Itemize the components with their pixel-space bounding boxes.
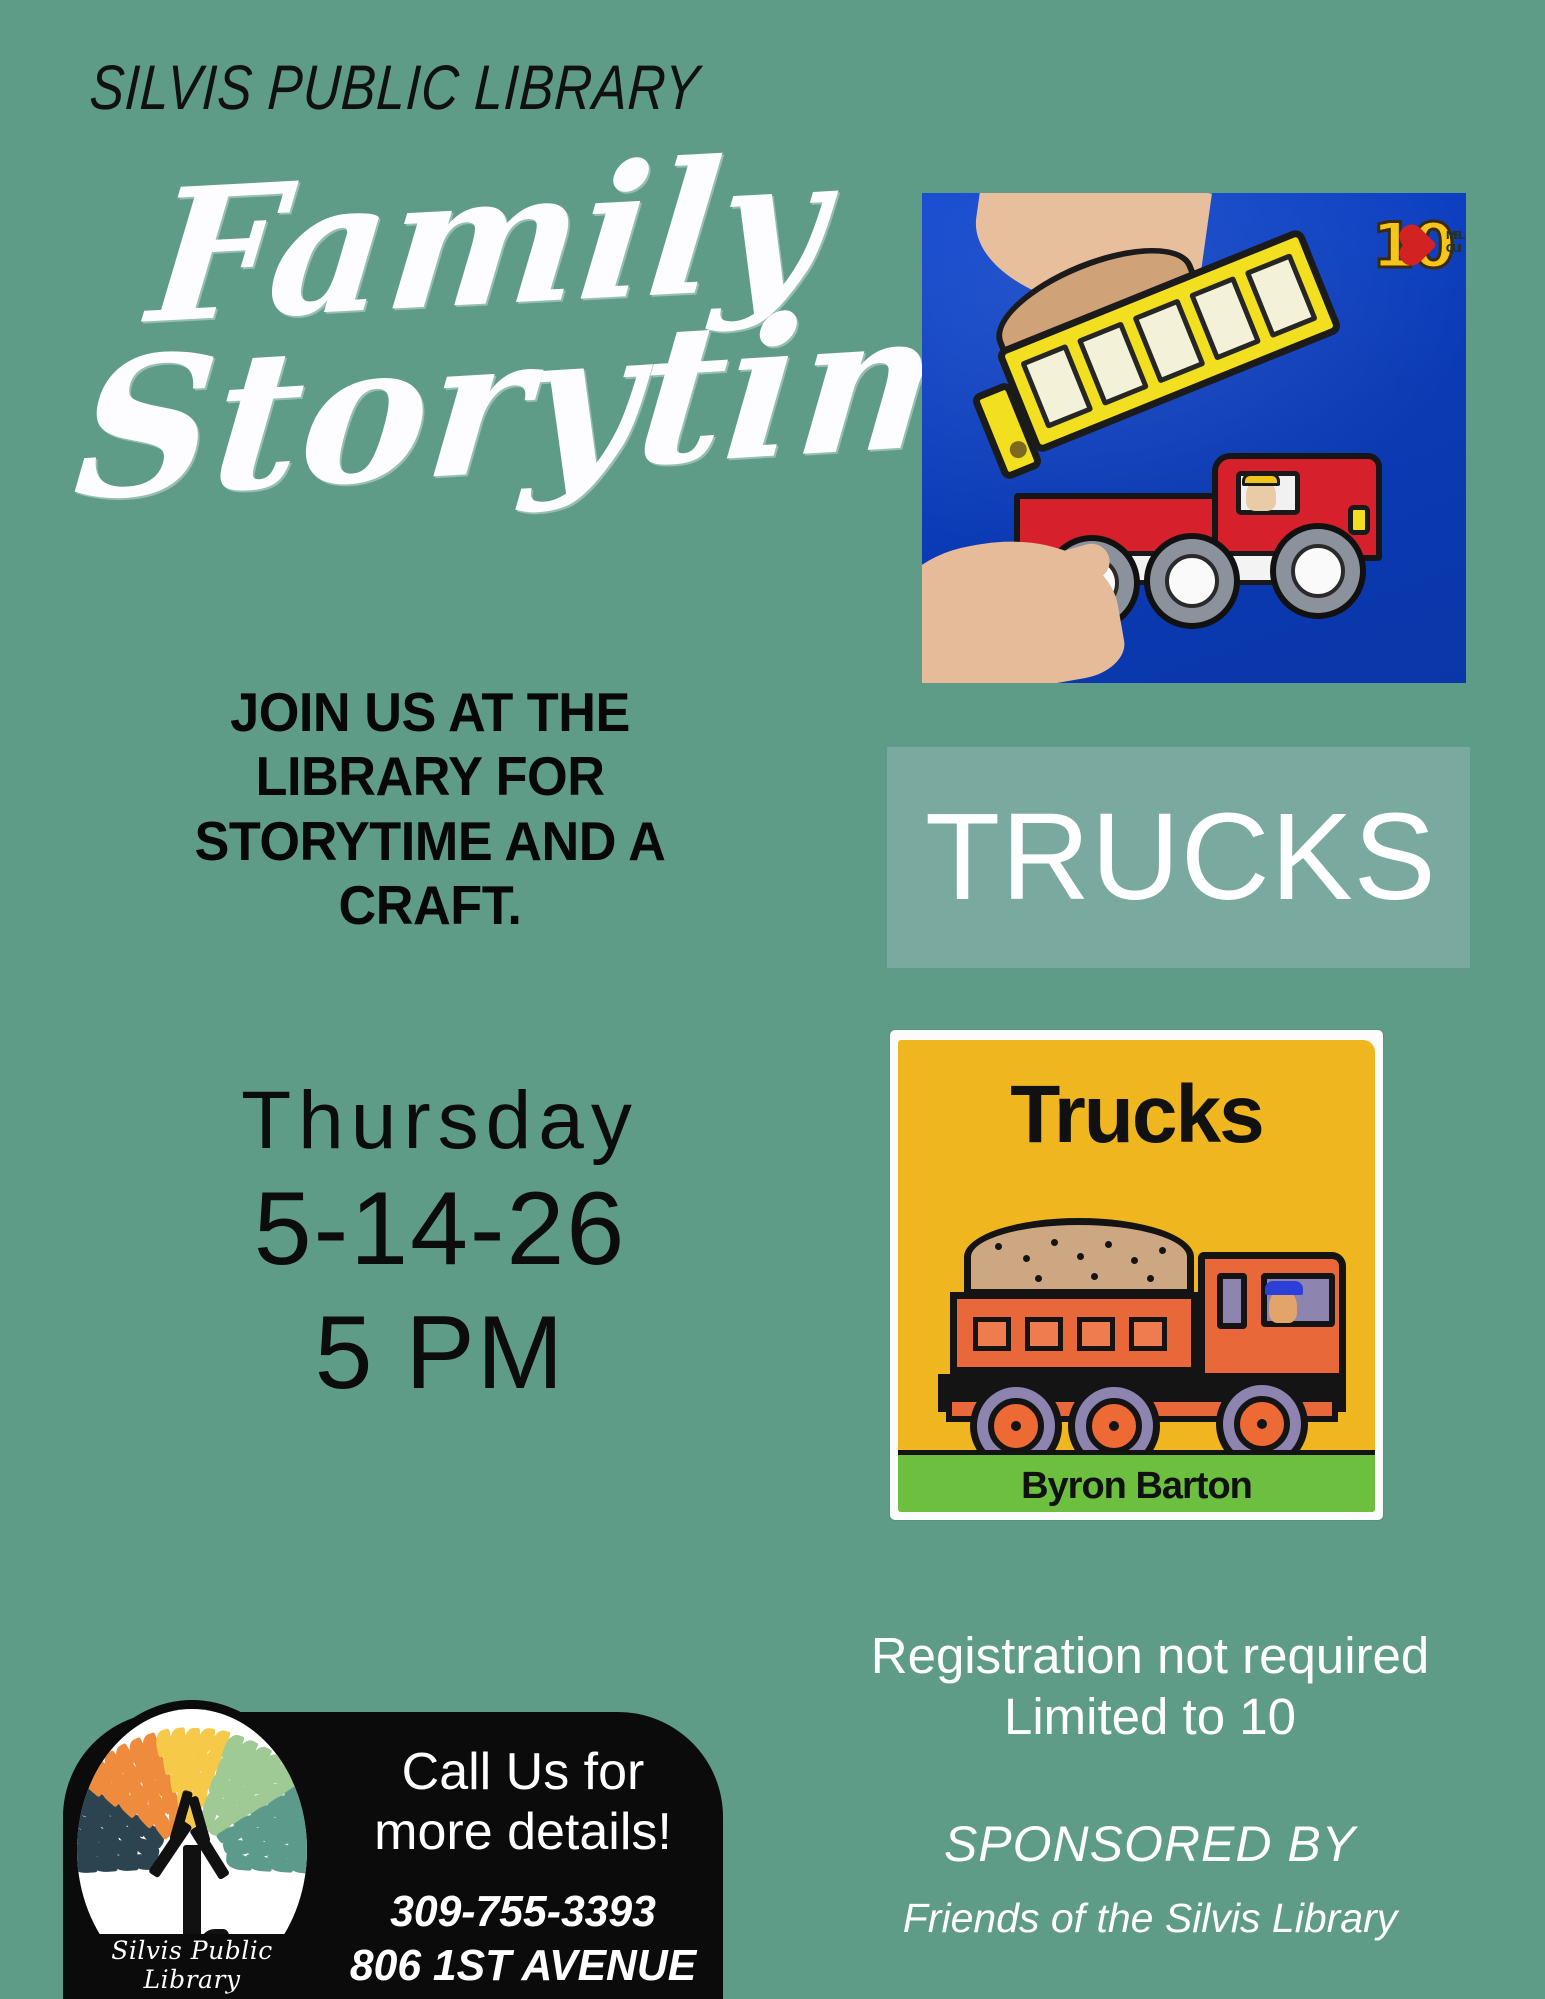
logo-nameband: Silvis Public Library READ, LEARN, GROW bbox=[68, 1934, 316, 1999]
contact-info: Call Us for more details! 309-755-3393 8… bbox=[333, 1742, 713, 1999]
street-address: 806 1ST AVENUE bbox=[339, 1939, 708, 1994]
event-date: 5-14-26 bbox=[140, 1167, 740, 1292]
craft-photo: 10 MEL QUI bbox=[922, 193, 1466, 683]
library-logo: Silvis Public Library READ, LEARN, GROW bbox=[68, 1700, 316, 1999]
book-truck-cab bbox=[1198, 1252, 1346, 1380]
paper-truck-wheel bbox=[1270, 523, 1366, 619]
sponsor-heading: SPONSORED BY bbox=[800, 1815, 1500, 1873]
sponsor-block: SPONSORED BY Friends of the Silvis Libra… bbox=[800, 1815, 1500, 1942]
topic-banner-label: TRUCKS bbox=[887, 787, 1437, 928]
call-us-line2: more details! bbox=[333, 1802, 713, 1862]
topic-banner: TRUCKS bbox=[887, 747, 1470, 968]
join-us-text: JOIN US AT THE LIBRARY FOR STORYTIME AND… bbox=[145, 680, 715, 937]
logo-name: Silvis Public Library bbox=[68, 1936, 316, 1994]
book-title: Trucks bbox=[898, 1068, 1375, 1162]
registration-info: Registration not required Limited to 10 bbox=[800, 1625, 1500, 1747]
registration-line1: Registration not required bbox=[800, 1625, 1500, 1686]
book-cover-face: Trucks Byron Barton bbox=[898, 1040, 1375, 1512]
sponsor-name: Friends of the Silvis Library bbox=[800, 1895, 1500, 1942]
book-truck-load bbox=[964, 1218, 1194, 1296]
website-url[interactable]: SILVISLIBRARY.ORG bbox=[339, 1994, 708, 1999]
paper-truck-wheel bbox=[1144, 533, 1240, 629]
page-title: SILVIS PUBLIC LIBRARY bbox=[88, 52, 702, 124]
event-time: 5 PM bbox=[140, 1292, 740, 1415]
flyer-poster: SILVIS PUBLIC LIBRARY Family Storytime J… bbox=[0, 0, 1545, 1999]
book-author: Byron Barton bbox=[898, 1465, 1375, 1508]
book-truck-bed bbox=[950, 1292, 1198, 1374]
sticker-number-10: 10 MEL QUI bbox=[1372, 215, 1452, 277]
call-us-line1: Call Us for bbox=[333, 1742, 713, 1802]
registration-line2: Limited to 10 bbox=[800, 1686, 1500, 1747]
book-cover: Trucks Byron Barton bbox=[890, 1030, 1383, 1520]
phone-number[interactable]: 309-755-3393 bbox=[339, 1885, 708, 1940]
sticker-subtext: MEL QUI bbox=[1446, 229, 1462, 255]
event-day: Thursday bbox=[140, 1075, 740, 1167]
event-datetime: Thursday 5-14-26 5 PM bbox=[140, 1075, 740, 1414]
